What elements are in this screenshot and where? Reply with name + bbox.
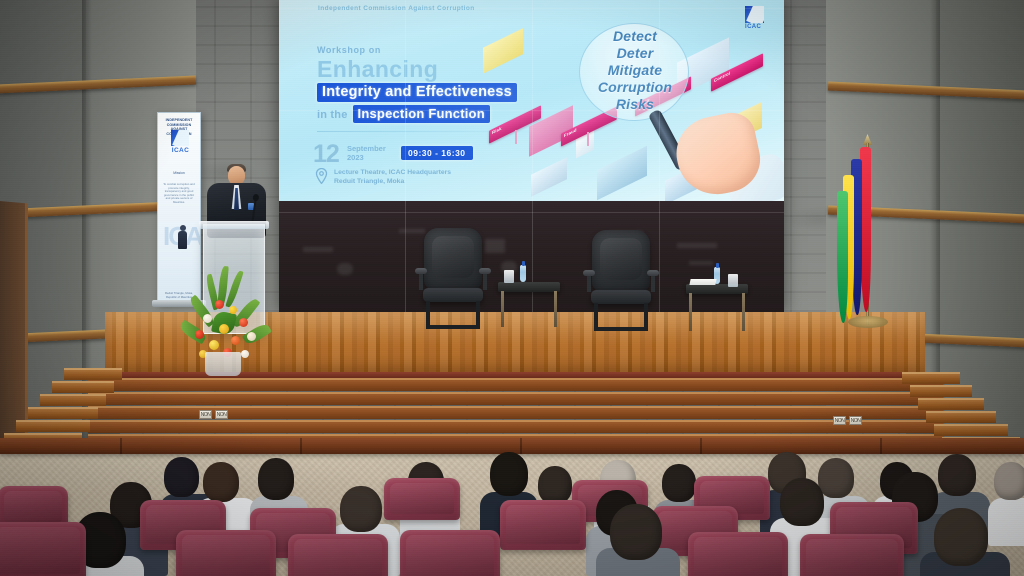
slide-venue-line-1: Lecture Theatre, ICAC Headquarters bbox=[334, 169, 451, 178]
slide-highlight-line-2: in theInspection Function bbox=[317, 105, 490, 123]
led-lower-panels bbox=[279, 201, 784, 314]
mauritius-flag bbox=[838, 145, 876, 320]
location-pin-icon bbox=[315, 168, 328, 184]
chair-left-runner bbox=[426, 325, 480, 329]
step-marker-1: NON SLIP bbox=[199, 410, 212, 419]
rail-seam-4 bbox=[700, 438, 702, 454]
seat-r3-2[interactable] bbox=[288, 534, 388, 576]
attendee-head-5 bbox=[490, 452, 528, 496]
iso-block-6 bbox=[531, 157, 567, 197]
slide-highlight-1-text: Integrity and Effectiveness bbox=[317, 83, 517, 102]
rail-seam-3 bbox=[520, 438, 522, 454]
glass-stack-right bbox=[728, 274, 738, 287]
right-stair-1 bbox=[902, 372, 960, 384]
chair-right-runner bbox=[594, 327, 648, 331]
attendee-head-1 bbox=[164, 457, 199, 497]
slide-date-year: 2023 bbox=[347, 153, 386, 162]
attendee-head-12 bbox=[938, 454, 976, 496]
banner-subtitle: Mission bbox=[162, 171, 196, 175]
icac-logo-mark bbox=[745, 6, 764, 23]
led-screen-slide: Independent Commission Against Corruptio… bbox=[279, 0, 784, 201]
attendee-head-2 bbox=[203, 462, 239, 502]
reflection-1 bbox=[303, 247, 333, 252]
right-stair-5 bbox=[934, 424, 1008, 436]
attendee-head-19 bbox=[610, 504, 662, 560]
chair-right-arm-post-right bbox=[651, 276, 655, 292]
leaf-2 bbox=[225, 270, 243, 308]
chair-right-seat bbox=[591, 290, 651, 304]
step-marker-4: NON SLIP bbox=[849, 416, 862, 425]
slide-highlight-line-1: Integrity and Effectiveness bbox=[317, 83, 517, 102]
glass-stack-left bbox=[504, 270, 514, 283]
slide-connector-text: in the bbox=[317, 109, 348, 121]
seat-r1-1[interactable] bbox=[384, 478, 460, 520]
seat-r3-0[interactable] bbox=[0, 522, 86, 576]
rail-seam-5 bbox=[880, 438, 882, 454]
left-stair-4 bbox=[28, 407, 98, 419]
iso-tag-post-1 bbox=[515, 130, 517, 144]
banner-logo-text: ICAC bbox=[171, 147, 190, 154]
chair-left-arm-post-right bbox=[483, 274, 487, 290]
seat-r3-4[interactable] bbox=[688, 532, 788, 576]
side-table-right-leg-2 bbox=[742, 293, 745, 331]
flower-vase bbox=[205, 352, 241, 376]
slide-date-day: 12 bbox=[313, 140, 339, 169]
attendee-shoulders-13 bbox=[988, 498, 1024, 546]
led-video-wall: Independent Commission Against Corruptio… bbox=[279, 0, 784, 314]
artwork-word-5: Risks bbox=[584, 96, 686, 113]
artwork-word-4: Corruption bbox=[584, 79, 686, 96]
banner-figure-body bbox=[178, 231, 187, 249]
step-marker-3: NON SLIP bbox=[833, 416, 846, 425]
chair-right-back bbox=[592, 230, 650, 292]
artwork-word-2: Deter bbox=[584, 45, 686, 62]
slide-highlight-2-text: Inspection Function bbox=[353, 105, 490, 123]
left-stair-5 bbox=[16, 420, 90, 432]
bloom-1 bbox=[215, 300, 224, 309]
slide-kicker: Workshop on bbox=[317, 45, 381, 55]
slide-time: 09:30 - 16:30 bbox=[401, 146, 473, 160]
flag-stripe-green bbox=[837, 191, 848, 323]
left-stair-1 bbox=[64, 368, 122, 380]
bloom-7 bbox=[247, 332, 256, 341]
chair-right-arm-post-left bbox=[587, 276, 591, 292]
attendee-head-6 bbox=[538, 466, 572, 504]
seat-r3-3[interactable] bbox=[400, 530, 500, 576]
slide-venue-line-2: Reduit Triangle, Moka bbox=[334, 178, 451, 187]
presentation-slide: Independent Commission Against Corruptio… bbox=[279, 0, 784, 201]
side-table-left-top bbox=[498, 282, 560, 292]
slide-venue: Lecture Theatre, ICAC Headquarters Redui… bbox=[334, 169, 451, 186]
left-stair-3 bbox=[40, 394, 106, 406]
magnifier-caption: Detect Deter Mitigate Corruption Risks bbox=[584, 28, 686, 113]
banner-body: To combat corruption and promote integri… bbox=[162, 183, 196, 205]
flag-stand-base bbox=[848, 316, 888, 328]
stage-step-2 bbox=[88, 392, 943, 405]
attendee-head-13 bbox=[994, 462, 1024, 500]
side-table-left-leg-2 bbox=[554, 291, 557, 327]
bloom-2 bbox=[229, 306, 237, 314]
water-bottle-left bbox=[520, 265, 526, 282]
iso-tag-post-2 bbox=[587, 132, 589, 146]
bloom-11 bbox=[241, 350, 249, 358]
banner-figure bbox=[178, 225, 187, 251]
slide-organisation-name: Independent Commission Against Corruptio… bbox=[318, 5, 475, 12]
reflection-chair-1 bbox=[337, 263, 353, 275]
icac-logo: ICAC bbox=[745, 6, 767, 32]
artwork-word-3: Mitigate bbox=[584, 62, 686, 79]
bloom-5 bbox=[219, 324, 229, 334]
attendee-head-15 bbox=[340, 486, 382, 532]
artwork-word-1: Detect bbox=[584, 28, 686, 45]
attendee-head-10 bbox=[818, 458, 854, 498]
bloom-9 bbox=[209, 340, 219, 350]
attendee-head-8 bbox=[662, 464, 696, 502]
reflection-5 bbox=[677, 243, 717, 248]
bloom-6 bbox=[195, 330, 204, 339]
floral-arrangement bbox=[179, 268, 275, 376]
stage-step-1 bbox=[88, 378, 943, 391]
slide-date-month-year: September 2023 bbox=[347, 144, 386, 162]
auditorium-scene: Independent Commission Against Corruptio… bbox=[0, 0, 1024, 576]
rail-seam-2 bbox=[300, 438, 302, 454]
left-stair-2 bbox=[52, 381, 114, 393]
bloom-8 bbox=[231, 336, 240, 345]
right-stair-3 bbox=[918, 398, 984, 410]
iso-block-2 bbox=[483, 28, 523, 74]
seat-r3-1[interactable] bbox=[176, 530, 276, 576]
icac-logo-text: ICAC bbox=[745, 24, 767, 30]
side-table-right-leg-1 bbox=[689, 293, 692, 331]
reflection-3 bbox=[485, 239, 505, 253]
attendee-head-17 bbox=[780, 478, 824, 526]
attendee-head-3 bbox=[258, 458, 294, 500]
iso-block-5 bbox=[597, 146, 647, 200]
side-table-right-top bbox=[686, 284, 748, 294]
rail-seam-1 bbox=[120, 438, 122, 454]
stage-step-4 bbox=[88, 420, 943, 433]
attendee-head-21 bbox=[934, 508, 988, 566]
seat-r2-3[interactable] bbox=[500, 500, 586, 550]
seat-r3-5[interactable] bbox=[800, 534, 904, 576]
step-marker-2: NON SLIP bbox=[215, 410, 228, 419]
banner-logo: ICAC bbox=[171, 130, 190, 154]
lectern-top-surface bbox=[199, 221, 269, 229]
slide-date-month: September bbox=[347, 144, 386, 153]
right-stair-4 bbox=[926, 411, 996, 423]
side-table-left-leg-1 bbox=[501, 291, 504, 327]
slide-headline: Enhancing bbox=[317, 56, 438, 83]
chair-left-back bbox=[424, 228, 482, 290]
banner-logo-mark bbox=[171, 130, 189, 146]
papers-on-table bbox=[689, 279, 716, 285]
bloom-4 bbox=[239, 318, 248, 327]
right-stair-2 bbox=[910, 385, 972, 397]
reflection-2 bbox=[399, 229, 425, 233]
chair-left-seat bbox=[423, 288, 483, 302]
bloom-3 bbox=[203, 314, 212, 323]
reflection-6 bbox=[689, 261, 713, 265]
chair-left-arm-post-left bbox=[419, 274, 423, 290]
